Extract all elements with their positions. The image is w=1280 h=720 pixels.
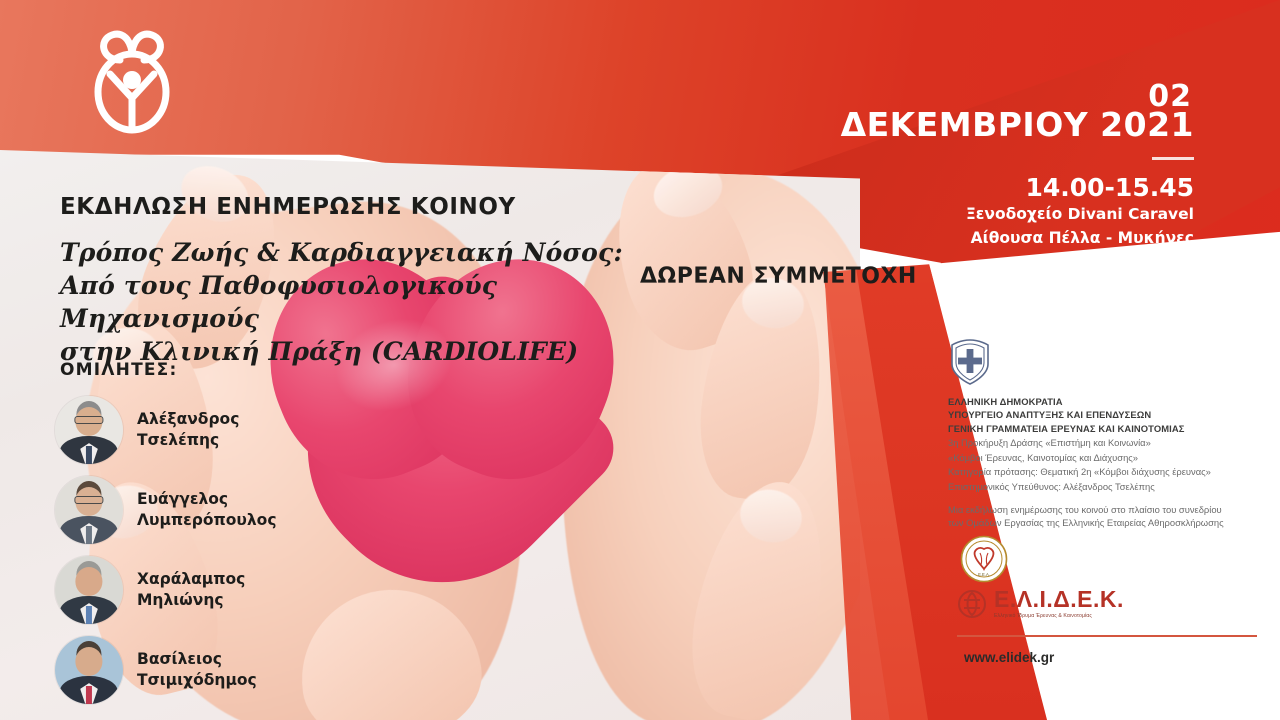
free-participation-label: ΔΩΡΕΑΝ ΣΥΜΜΕΤΟΧΗ bbox=[640, 264, 917, 289]
elidek-mark-icon bbox=[957, 589, 987, 619]
speaker-avatar bbox=[55, 636, 123, 704]
speaker-first-name: Βασίλειος bbox=[137, 650, 222, 668]
event-poster: ΕΚΔΗΛΩΣΗ ΕΝΗΜΕΡΩΣΗΣ ΚΟΙΝΟΥ Τρόπος Ζωής &… bbox=[0, 0, 1280, 720]
heart-person-logo bbox=[82, 26, 182, 136]
program-detail-3: Κατηγορία πρότασης: Θεματική 2η «Κόμβοι … bbox=[948, 465, 1248, 479]
org-line-2: ΥΠΟΥΡΓΕΙΟ ΑΝΑΠΤΥΞΗΣ ΚΑΙ ΕΠΕΝΔΥΣΕΩΝ bbox=[948, 408, 1248, 421]
speaker-last-name: Τσιμιχόδημος bbox=[137, 671, 257, 689]
event-title: Τρόπος Ζωής & Καρδιαγγειακή Νόσος: Από τ… bbox=[60, 236, 680, 368]
speaker-last-name: Λυμπερόπουλος bbox=[137, 511, 277, 529]
speaker-item: ΕυάγγελοςΛυμπερόπουλος bbox=[55, 472, 335, 547]
event-title-line-2: Από τους Παθοφυσιολογικούς Μηχανισμούς bbox=[60, 269, 680, 335]
speaker-first-name: Ευάγγελος bbox=[137, 490, 228, 508]
avatar-glasses bbox=[74, 416, 103, 424]
event-title-line-1: Τρόπος Ζωής & Καρδιαγγειακή Νόσος: bbox=[60, 236, 680, 269]
venue-line-2: Αίθουσα Πέλλα - Μυκήνες bbox=[841, 228, 1194, 249]
avatar-glasses bbox=[74, 496, 103, 504]
elidek-tagline: Ελληνικό Ίδρυμα Έρευνας & Καινοτομίας bbox=[994, 613, 1124, 619]
event-kicker: ΕΚΔΗΛΩΣΗ ΕΝΗΜΕΡΩΣΗΣ ΚΟΙΝΟΥ bbox=[60, 194, 680, 222]
speaker-first-name: Αλέξανδρος bbox=[137, 410, 239, 428]
hellenic-atherosclerosis-society-logo: E.E.A. bbox=[960, 535, 1008, 583]
svg-text:E.E.A.: E.E.A. bbox=[978, 572, 990, 577]
speaker-last-name: Τσελέπης bbox=[137, 431, 219, 449]
speaker-name: ΕυάγγελοςΛυμπερόπουλος bbox=[137, 489, 277, 530]
elidek-wordmark: Ε.Λ.Ι.Δ.Ε.Κ. bbox=[994, 588, 1124, 611]
elidek-logo: Ε.Λ.Ι.Δ.Ε.Κ. Ελληνικό Ίδρυμα Έρευνας & Κ… bbox=[957, 588, 1124, 619]
avatar-tie bbox=[86, 686, 92, 704]
hellenic-republic-emblem bbox=[948, 338, 992, 386]
avatar-head bbox=[75, 567, 102, 596]
event-time: 14.00-15.45 bbox=[841, 174, 1194, 202]
speaker-avatar bbox=[55, 396, 123, 464]
sponsor-info-block: ΕΛΛΗΝΙΚΗ ΔΗΜΟΚΡΑΤΙΑ ΥΠΟΥΡΓΕΙΟ ΑΝΑΠΤΥΞΗΣ … bbox=[948, 338, 1248, 530]
speaker-name: ΧαράλαμποςΜηλιώνης bbox=[137, 569, 245, 610]
venue-line-1: Ξενοδοχείο Divani Caravel bbox=[841, 204, 1194, 225]
date-divider bbox=[1152, 157, 1194, 160]
avatar-tie bbox=[86, 606, 92, 624]
org-line-1: ΕΛΛΗΝΙΚΗ ΔΗΜΟΚΡΑΤΙΑ bbox=[948, 395, 1248, 408]
avatar-tie bbox=[86, 446, 92, 464]
event-note-2: των Ομάδων Εργασίας της Ελληνικής Εταιρε… bbox=[948, 516, 1248, 530]
speaker-first-name: Χαράλαμπος bbox=[137, 570, 245, 588]
program-detail-2: «Κόμβοι Έρευνας, Καινοτομίας και Διάχυση… bbox=[948, 451, 1248, 465]
elidek-website-link[interactable]: www.elidek.gr bbox=[964, 650, 1054, 665]
program-detail-1: 3η Προκήρυξη Δράσης «Επιστήμη και Κοινων… bbox=[948, 436, 1248, 450]
speaker-avatar bbox=[55, 556, 123, 624]
org-line-3: ΓΕΝΙΚΗ ΓΡΑΜΜΑΤΕΙΑ ΕΡΕΥΝΑΣ ΚΑΙ ΚΑΙΝΟΤΟΜΙΑ… bbox=[948, 422, 1248, 435]
avatar-head bbox=[75, 647, 102, 676]
speaker-item: ΑλέξανδροςΤσελέπης bbox=[55, 392, 335, 467]
speakers-label: ΟΜΙΛΗΤΕΣ: bbox=[60, 360, 178, 380]
program-detail-4: Επιστημονικός Υπεύθυνος: Αλέξανδρος Τσελ… bbox=[948, 480, 1248, 494]
speakers-list: ΑλέξανδροςΤσελέπηςΕυάγγελοςΛυμπερόπουλος… bbox=[55, 392, 335, 712]
speaker-item: ΒασίλειοςΤσιμιχόδημος bbox=[55, 632, 335, 707]
event-month-year: ΔΕΚΕΜΒΡΙΟΥ 2021 bbox=[841, 108, 1194, 143]
event-note-1: Μια εκδήλωση ενημέρωσης του κοινού στο π… bbox=[948, 503, 1248, 517]
elidek-text-block: Ε.Λ.Ι.Δ.Ε.Κ. Ελληνικό Ίδρυμα Έρευνας & Κ… bbox=[994, 588, 1124, 619]
headline-block: ΕΚΔΗΛΩΣΗ ΕΝΗΜΕΡΩΣΗΣ ΚΟΙΝΟΥ Τρόπος Ζωής &… bbox=[60, 194, 680, 368]
date-time-block: 02 ΔΕΚΕΜΒΡΙΟΥ 2021 14.00-15.45 Ξενοδοχεί… bbox=[841, 82, 1194, 249]
panel-divider bbox=[957, 635, 1257, 637]
speaker-item: ΧαράλαμποςΜηλιώνης bbox=[55, 552, 335, 627]
speaker-name: ΒασίλειοςΤσιμιχόδημος bbox=[137, 649, 257, 690]
speaker-last-name: Μηλιώνης bbox=[137, 591, 224, 609]
avatar-tie bbox=[86, 526, 92, 544]
speaker-name: ΑλέξανδροςΤσελέπης bbox=[137, 409, 239, 450]
speaker-avatar bbox=[55, 476, 123, 544]
